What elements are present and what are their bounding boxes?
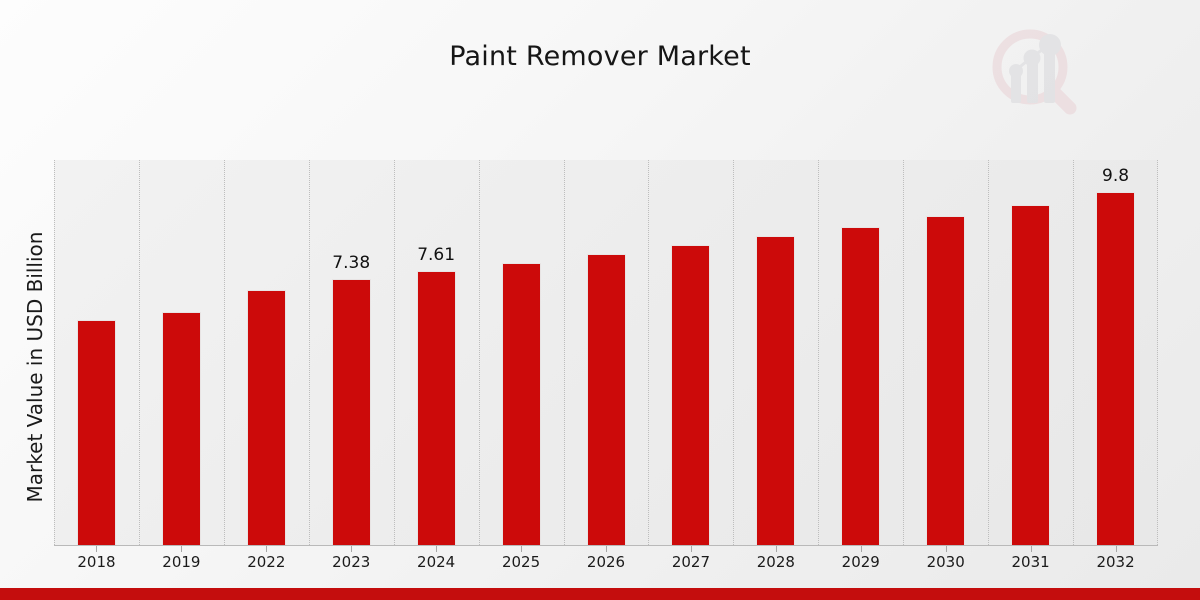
tick-mark-2025 [521,546,522,552]
gridline [564,160,566,545]
x-tick-label-2018: 2018 [77,553,115,571]
tick-mark-2024 [436,546,437,552]
tick-mark-2026 [606,546,607,552]
tick-mark-2019 [181,546,182,552]
gridline [309,160,311,545]
chart-figure: Paint Remover Market Market Value in USD… [0,0,1200,600]
gridline [1157,160,1159,545]
value-label-2024: 7.61 [417,245,455,265]
tick-mark-2032 [1116,546,1117,552]
x-tick-label-2030: 2030 [927,553,965,571]
bar-2022[interactable] [247,290,286,545]
bar-2026[interactable] [587,254,626,545]
bar-2027[interactable] [671,245,710,545]
gridline [733,160,735,545]
magnifying-glass-bar-chart-icon [982,21,1086,125]
x-tick-label-2029: 2029 [842,553,880,571]
x-tick-label-2024: 2024 [417,553,455,571]
bar-2019[interactable] [162,312,201,545]
y-axis-title: Market Value in USD Billion [23,157,47,577]
x-tick-label-2031: 2031 [1012,553,1050,571]
gridline [1073,160,1075,545]
x-tick-label-2022: 2022 [247,553,285,571]
gridline [903,160,905,545]
gridline [54,160,56,545]
bar-2028[interactable] [756,236,795,545]
tick-mark-2030 [946,546,947,552]
gridline [224,160,226,545]
tick-mark-2023 [351,546,352,552]
x-tick-label-2025: 2025 [502,553,540,571]
tick-mark-2027 [691,546,692,552]
x-tick-label-2027: 2027 [672,553,710,571]
bar-2029[interactable] [841,227,880,545]
bar-2032[interactable] [1096,192,1135,545]
tick-mark-2029 [861,546,862,552]
x-tick-label-2028: 2028 [757,553,795,571]
gridline [818,160,820,545]
gridline [394,160,396,545]
bar-2030[interactable] [926,216,965,545]
gridline [988,160,990,545]
logo-watermark [982,21,1086,125]
gridline [139,160,141,545]
bar-2023[interactable] [332,279,371,545]
bar-2025[interactable] [502,263,541,545]
tick-mark-2018 [96,546,97,552]
tick-mark-2022 [266,546,267,552]
x-tick-label-2032: 2032 [1096,553,1134,571]
gridline [648,160,650,545]
bar-2024[interactable] [417,271,456,545]
value-label-2023: 7.38 [332,253,370,273]
tick-mark-2031 [1031,546,1032,552]
chart-title: Paint Remover Market [0,41,1200,72]
footer-accent-bar [0,588,1200,600]
gridline [479,160,481,545]
tick-mark-2028 [776,546,777,552]
x-tick-label-2023: 2023 [332,553,370,571]
x-tick-label-2019: 2019 [162,553,200,571]
value-label-2032: 9.8 [1102,166,1129,186]
plot-area [54,160,1158,545]
bar-2031[interactable] [1011,205,1050,545]
x-tick-label-2026: 2026 [587,553,625,571]
bar-2018[interactable] [77,320,116,545]
